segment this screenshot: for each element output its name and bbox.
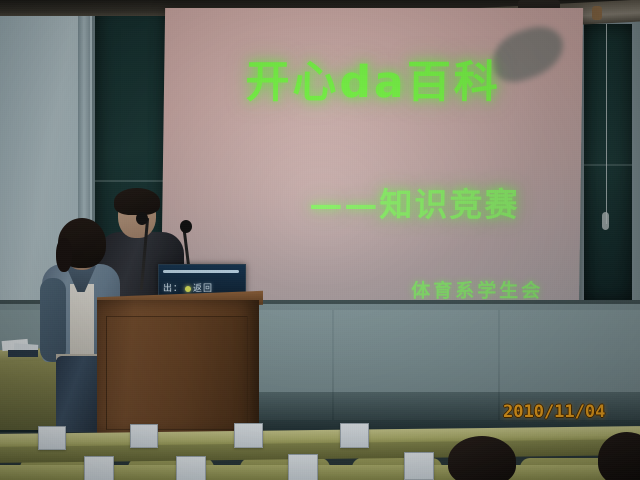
name-card: [288, 454, 318, 480]
slide-organization: 体育系学生会: [411, 276, 543, 303]
name-card: [340, 423, 369, 448]
name-card: [404, 452, 434, 480]
laptop-status-text: 出：: [163, 284, 183, 294]
name-card: [176, 456, 206, 480]
cord-weight: [602, 212, 609, 230]
blackboard-right: [582, 22, 634, 304]
name-card: [130, 424, 158, 448]
slide-subtitle: ——知识竞赛: [162, 178, 581, 226]
photograph: 开心da百科 ——知识竞赛 体育系学生会 出：返回: [0, 0, 640, 480]
slide-title: 开心da百科: [164, 46, 583, 110]
female-sleeve: [40, 278, 66, 362]
folder: [8, 350, 38, 357]
bullet-dot-icon: [185, 286, 191, 292]
laptop-progress-bar: [163, 270, 239, 273]
female-hair-side: [56, 238, 72, 272]
podium-panel: [106, 316, 248, 430]
ceiling-hook: [592, 6, 602, 20]
name-card: [38, 426, 66, 450]
audience-head: [448, 436, 516, 480]
hanging-cord: [606, 24, 607, 224]
male-hair: [114, 188, 160, 215]
microphone-icon: [136, 212, 148, 225]
microphone-icon: [180, 220, 192, 233]
name-card: [234, 423, 263, 448]
camera-datestamp: 2010/11/04: [503, 402, 605, 422]
name-card: [84, 456, 114, 480]
female-shirt: [70, 284, 94, 362]
